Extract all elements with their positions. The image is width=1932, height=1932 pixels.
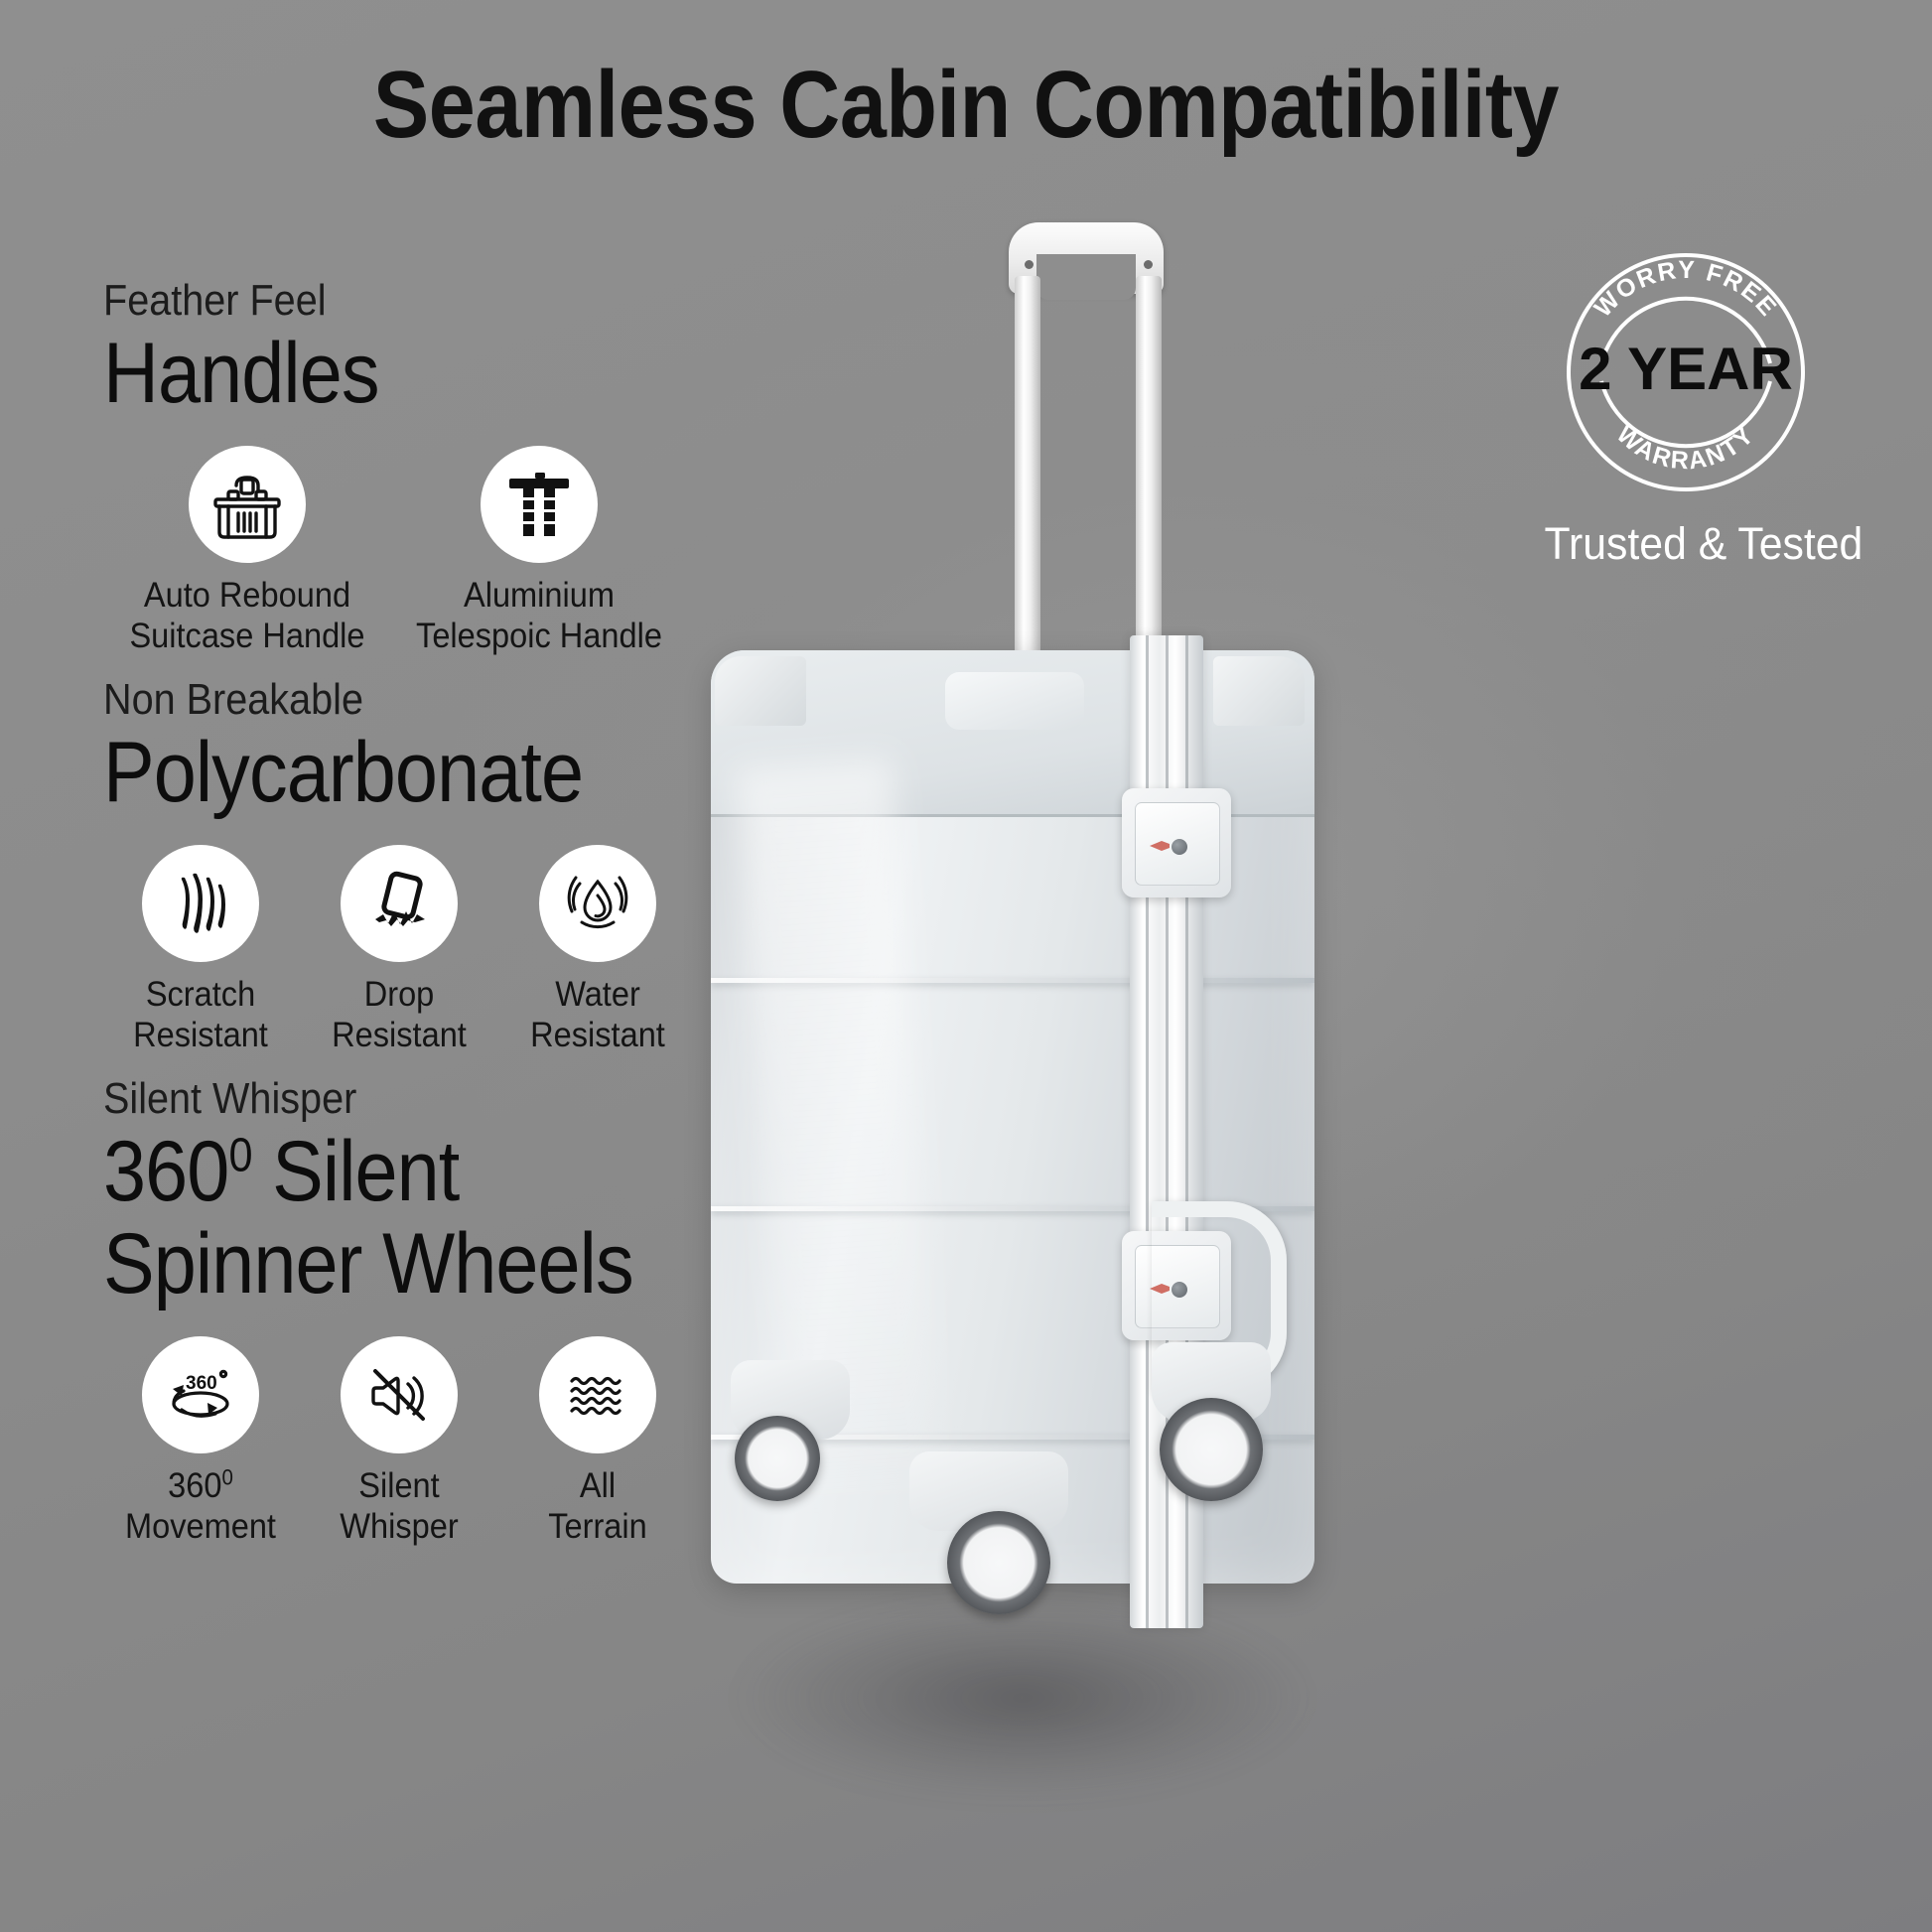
icon-label-drop-resistant: Drop Resistant bbox=[309, 974, 489, 1056]
feature-headline-spinner-line1: 3600 Silent bbox=[103, 1126, 675, 1218]
feature-headline-spinner-line2: Spinner Wheels bbox=[103, 1218, 675, 1311]
feature-block-handles: Feather Feel Handles bbox=[103, 276, 739, 656]
scratch-resistant-icon bbox=[142, 845, 259, 962]
headline-degree-symbol: 0 bbox=[228, 1129, 251, 1181]
svg-text:WARRANTY: WARRANTY bbox=[1611, 420, 1760, 475]
icon-cell-auto-rebound-handle[interactable]: Auto Rebound Suitcase Handle bbox=[103, 446, 391, 657]
spinner-wheel-rear-right bbox=[1160, 1398, 1263, 1501]
feature-headline-handles: Handles bbox=[103, 328, 675, 420]
headline-silent: Silent bbox=[252, 1124, 460, 1219]
icon-label-all-terrain: AllTerrain bbox=[507, 1465, 688, 1548]
handle-grip-opening bbox=[1036, 254, 1136, 300]
icon-row-spinner-wheels: 360 3600Movement bbox=[103, 1336, 739, 1548]
label-movement: Movement bbox=[125, 1507, 276, 1546]
page-title: Seamless Cabin Compatibility bbox=[116, 52, 1816, 159]
icon-cell-all-terrain[interactable]: AllTerrain bbox=[500, 1336, 695, 1548]
feature-eyebrow-silent-whisper: Silent Whisper bbox=[103, 1074, 675, 1124]
handle-rivet bbox=[1144, 260, 1153, 269]
icon-cell-360-movement[interactable]: 360 3600Movement bbox=[103, 1336, 298, 1548]
icon-cell-silent-whisper[interactable]: SilentWhisper bbox=[302, 1336, 496, 1548]
tsa-logo-mark bbox=[1150, 841, 1170, 851]
icon-label-scratch-resistant: Scratch Resistant bbox=[110, 974, 291, 1056]
label-whisper: Whisper bbox=[340, 1507, 458, 1546]
icon-label-auto-rebound-handle: Auto Rebound Suitcase Handle bbox=[113, 575, 381, 657]
icon-cell-aluminium-telescopic-handle[interactable]: Aluminium Telespoic Handle bbox=[395, 446, 683, 657]
icon-row-handles: Auto Rebound Suitcase Handle bbox=[103, 446, 739, 657]
top-carry-handle-recess bbox=[945, 672, 1084, 730]
feature-block-spinner-wheels: Silent Whisper 3600 Silent Spinner Wheel… bbox=[103, 1074, 739, 1547]
water-resistant-icon bbox=[539, 845, 656, 962]
product-image-suitcase bbox=[635, 199, 1390, 1886]
svg-text:360: 360 bbox=[186, 1373, 217, 1394]
svg-text:2 YEAR: 2 YEAR bbox=[1579, 336, 1793, 402]
label-360: 360 bbox=[168, 1466, 221, 1505]
icon-cell-drop-resistant[interactable]: Drop Resistant bbox=[302, 845, 496, 1056]
warranty-caption: Trusted & Tested bbox=[1545, 518, 1828, 570]
tsa-keyhole bbox=[1172, 839, 1187, 855]
tsa-lock-face bbox=[1135, 802, 1220, 886]
silent-whisper-mute-icon bbox=[341, 1336, 458, 1453]
label-silent: Silent bbox=[358, 1466, 439, 1505]
spinner-wheel-front-left bbox=[947, 1511, 1050, 1614]
telescopic-handle-post-right bbox=[1136, 276, 1162, 673]
feature-headline-polycarbonate: Polycarbonate bbox=[103, 727, 675, 819]
tsa-lock-upper bbox=[1122, 788, 1231, 897]
icon-cell-water-resistant[interactable]: Water Resistant bbox=[500, 845, 695, 1056]
label-degree-symbol: 0 bbox=[221, 1464, 232, 1489]
handle-rivet bbox=[1025, 260, 1034, 269]
360-movement-icon: 360 bbox=[142, 1336, 259, 1453]
spinner-wheel-rear-left bbox=[735, 1416, 820, 1501]
icon-label-360-movement: 3600Movement bbox=[110, 1465, 291, 1548]
label-all: All bbox=[580, 1466, 616, 1505]
headline-360: 360 bbox=[103, 1124, 228, 1219]
infographic-page: Seamless Cabin Compatibility bbox=[0, 0, 1932, 1932]
feature-block-polycarbonate: Non Breakable Polycarbonate Scratch Resi… bbox=[103, 675, 739, 1055]
warranty-badge-group: WORRY FREE WARRANTY 2 YEAR Trusted & Tes… bbox=[1537, 238, 1835, 570]
label-terrain: Terrain bbox=[548, 1507, 646, 1546]
icon-label-silent-whisper: SilentWhisper bbox=[309, 1465, 489, 1548]
feature-eyebrow-handles: Feather Feel bbox=[103, 276, 675, 326]
drop-resistant-icon bbox=[341, 845, 458, 962]
warranty-seal: WORRY FREE WARRANTY 2 YEAR bbox=[1552, 238, 1820, 506]
frame-groove bbox=[1146, 635, 1149, 1628]
svg-text:WORRY FREE: WORRY FREE bbox=[1588, 256, 1782, 323]
feature-eyebrow-polycarbonate: Non Breakable bbox=[103, 675, 675, 725]
auto-rebound-suitcase-handle-icon bbox=[189, 446, 306, 563]
icon-label-water-resistant: Water Resistant bbox=[507, 974, 688, 1056]
aluminium-telescopic-handle-icon bbox=[481, 446, 598, 563]
all-terrain-waves-icon bbox=[539, 1336, 656, 1453]
telescopic-handle-post-left bbox=[1015, 276, 1040, 673]
corner-protector bbox=[1213, 656, 1305, 726]
icon-row-polycarbonate: Scratch Resistant Drop Resistant bbox=[103, 845, 739, 1056]
icon-label-aluminium-telescopic-handle: Aluminium Telespoic Handle bbox=[405, 575, 673, 657]
icon-cell-scratch-resistant[interactable]: Scratch Resistant bbox=[103, 845, 298, 1056]
